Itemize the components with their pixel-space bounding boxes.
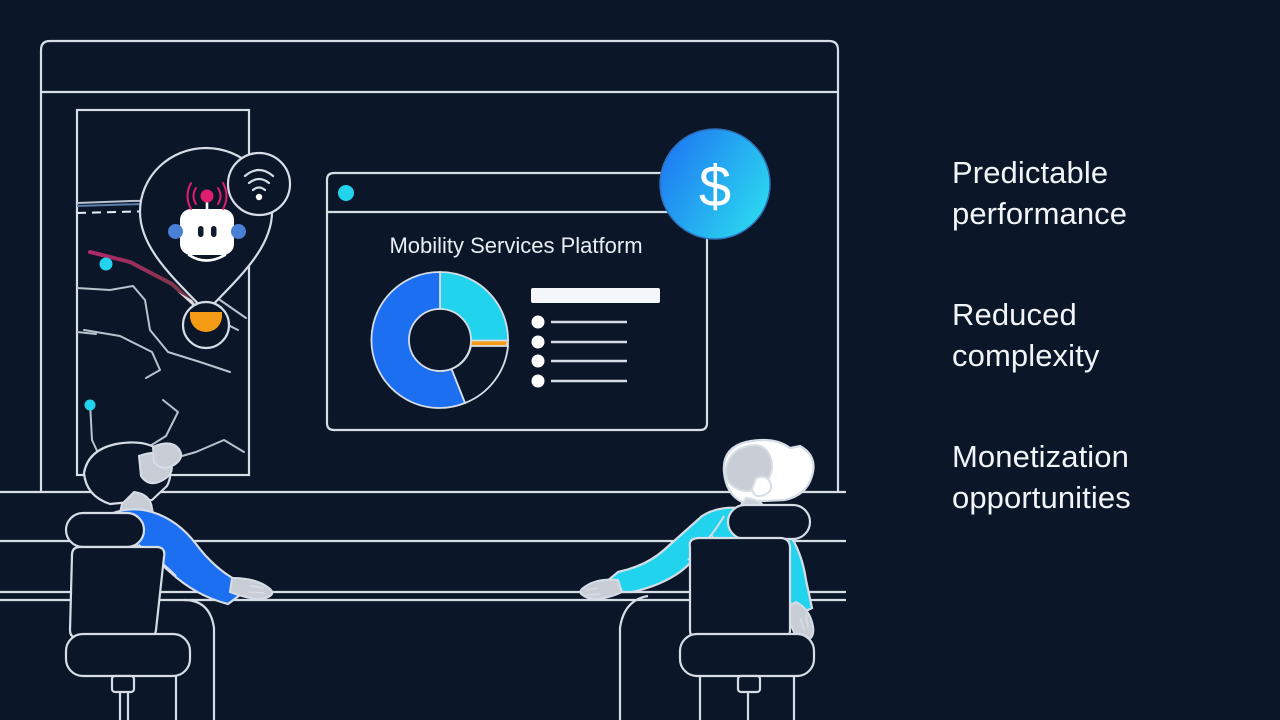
map-waypoint-dot[interactable] — [100, 258, 113, 271]
bullet-line: performance — [952, 193, 1252, 234]
chair-right-armrest — [620, 596, 648, 720]
bullet-item-reduced-complexity: Reduced complexity — [952, 294, 1252, 376]
bullet-line: complexity — [952, 335, 1252, 376]
legend-header-bar — [531, 288, 660, 303]
legend-bullet-icon — [532, 375, 545, 388]
robot-map-pin[interactable] — [140, 148, 290, 348]
app-window-title: Mobility Services Platform — [389, 233, 642, 258]
bullet-item-monetization-opportunities: Monetization opportunities — [952, 436, 1252, 518]
map-waypoint-dot[interactable] — [85, 400, 96, 411]
antenna-signal-dot — [201, 190, 214, 203]
bullet-line: Reduced — [952, 294, 1252, 335]
destination-marker[interactable] — [183, 302, 229, 348]
window-tab-dot[interactable] — [338, 185, 354, 201]
slide-canvas: Mobility Services Platform $ — [0, 0, 1280, 720]
dollar-sign-icon: $ — [699, 154, 731, 219]
bullet-line: Predictable — [952, 152, 1252, 193]
bullet-item-predictable-performance: Predictable performance — [952, 152, 1252, 234]
legend-bullet-icon — [532, 355, 545, 368]
dollar-coin-badge[interactable]: $ — [660, 129, 770, 239]
donut-hole — [409, 309, 471, 371]
donut-chart[interactable] — [371, 272, 508, 408]
benefit-bullet-list: Predictable performance Reduced complexi… — [952, 152, 1252, 518]
bullet-line: Monetization — [952, 436, 1252, 477]
person-right — [580, 440, 814, 720]
wifi-badge — [228, 153, 290, 215]
legend-bullet-icon — [532, 316, 545, 329]
legend-bullet-icon — [532, 336, 545, 349]
person-left — [66, 442, 272, 720]
bullet-line: opportunities — [952, 477, 1252, 518]
